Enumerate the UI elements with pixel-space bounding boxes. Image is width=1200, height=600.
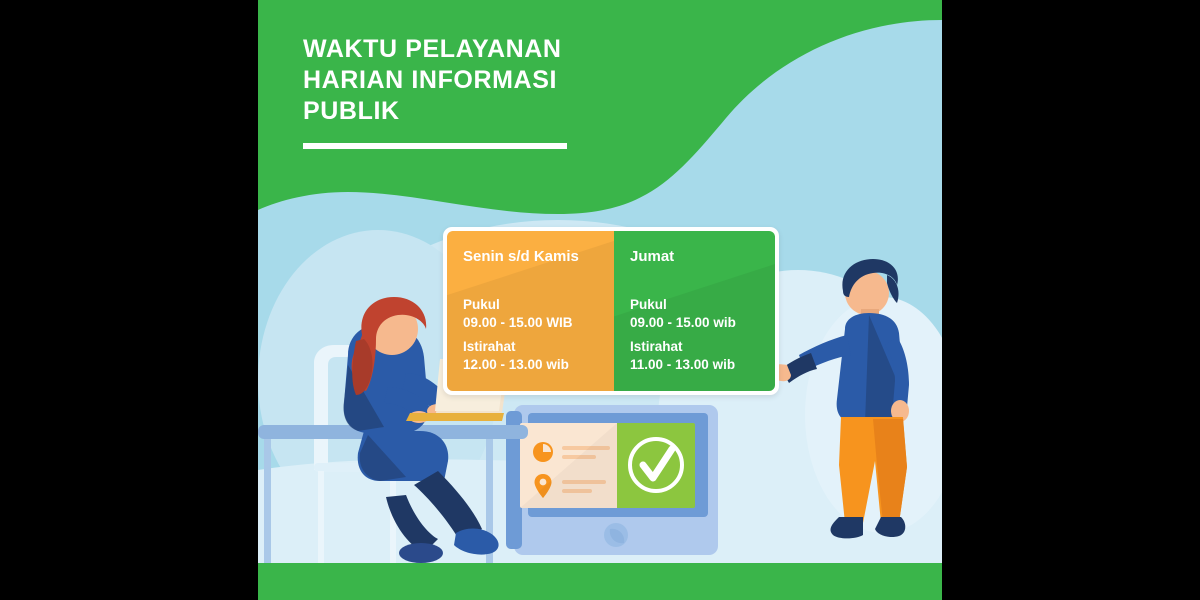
schedule-heading: Jumat xyxy=(630,247,761,266)
schedule-row-value: 12.00 - 13.00 wib xyxy=(463,356,600,374)
info-card xyxy=(520,423,695,508)
standing-man-illustration xyxy=(803,255,942,565)
schedule-row-value: 11.00 - 13.00 wib xyxy=(630,356,761,374)
poster-canvas: WAKTU PELAYANAN HARIAN INFORMASI PUBLIK xyxy=(258,0,942,600)
title-line-3: PUBLIK xyxy=(303,96,603,127)
info-card-badge xyxy=(617,423,695,508)
schedule-row-label: Pukul xyxy=(463,296,600,314)
schedule-column-jumat[interactable]: Jumat Pukul 09.00 - 15.00 wib Istirahat … xyxy=(614,231,775,391)
background-green-footer xyxy=(258,563,942,600)
info-card-details xyxy=(520,423,617,508)
title-line-1: WAKTU PELAYANAN xyxy=(303,34,603,65)
info-card-shade xyxy=(520,423,617,508)
schedule-row-label: Istirahat xyxy=(630,338,761,356)
letterbox-bar-right xyxy=(942,0,1200,600)
poster-title-block: WAKTU PELAYANAN HARIAN INFORMASI PUBLIK xyxy=(303,34,603,149)
schedule-heading: Senin s/d Kamis xyxy=(463,247,600,266)
title-line-2: HARIAN INFORMASI xyxy=(303,65,603,96)
poster-stage: WAKTU PELAYANAN HARIAN INFORMASI PUBLIK xyxy=(0,0,1200,600)
schedule-row-label: Istirahat xyxy=(463,338,600,356)
schedule-row-value: 09.00 - 15.00 wib xyxy=(630,314,761,332)
title-underline xyxy=(303,143,567,149)
letterbox-bar-left xyxy=(0,0,258,600)
schedule-row-value: 09.00 - 15.00 WIB xyxy=(463,314,600,332)
schedule-column-senin-kamis[interactable]: Senin s/d Kamis Pukul 09.00 - 15.00 WIB … xyxy=(447,231,614,391)
schedule-row-label: Pukul xyxy=(630,296,761,314)
schedule-card: Senin s/d Kamis Pukul 09.00 - 15.00 WIB … xyxy=(443,227,779,395)
check-circle-icon xyxy=(617,423,695,508)
